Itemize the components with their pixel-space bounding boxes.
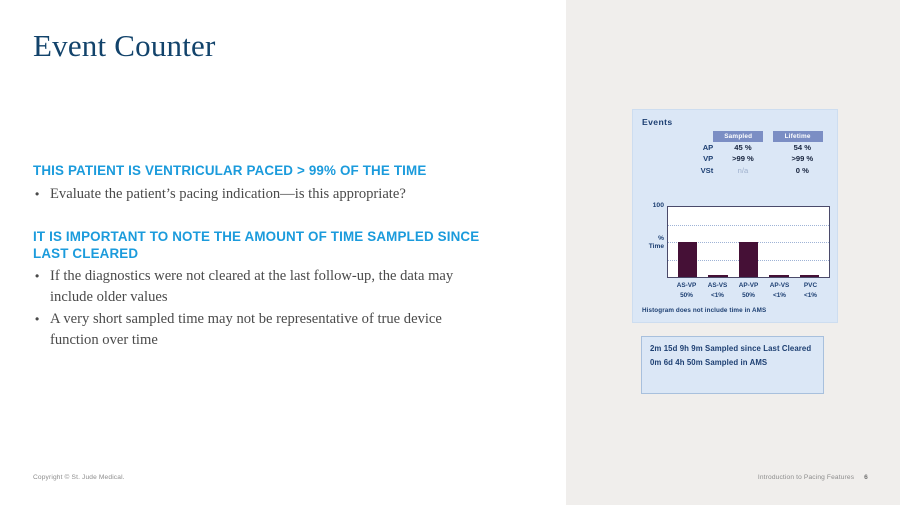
device-screenshot-panel: Events Sampled Lifetime AP bbox=[566, 0, 900, 505]
events-card: Events Sampled Lifetime AP bbox=[632, 109, 838, 323]
block-2-bullet-list: • If the diagnostics were not cleared at… bbox=[33, 266, 493, 351]
bar-slot-ap-vs bbox=[764, 207, 795, 277]
cell-vst-lifetime: 0 % bbox=[773, 165, 832, 177]
event-histogram-chart: 100 % Time bbox=[642, 206, 832, 302]
table-row: AP 45 % 54 % bbox=[642, 142, 832, 154]
sampled-time-box: 2m 15d 9h 9m Sampled since Last Cleared … bbox=[641, 336, 824, 394]
table-header-row: Sampled Lifetime bbox=[642, 131, 832, 142]
sampled-in-ams: 0m 6d 4h 50m Sampled in AMS bbox=[650, 358, 815, 369]
list-item: • Evaluate the patient’s pacing indicati… bbox=[33, 184, 493, 205]
x-category-as-vs: AS-VS bbox=[702, 281, 733, 291]
list-item-text: If the diagnostics were not cleared at t… bbox=[50, 268, 453, 305]
x-value-as-vs: <1% bbox=[702, 291, 733, 301]
column-header-lifetime: Lifetime bbox=[773, 131, 832, 142]
x-category-ap-vp: AP-VP bbox=[733, 281, 764, 291]
block-1-bullet-list: • Evaluate the patient’s pacing indicati… bbox=[33, 184, 493, 205]
x-category-ap-vs: AP-VS bbox=[764, 281, 795, 291]
page-title: Event Counter bbox=[33, 28, 216, 64]
content-block-1: THIS PATIENT IS VENTRICULAR PACED > 99% … bbox=[33, 163, 493, 206]
badge-sampled: Sampled bbox=[713, 131, 763, 142]
x-value-as-vp: 50% bbox=[671, 291, 702, 301]
column-header-blank bbox=[642, 131, 713, 142]
cell-vp-lifetime: >99 % bbox=[773, 153, 832, 165]
block-1-heading: THIS PATIENT IS VENTRICULAR PACED > 99% … bbox=[33, 163, 493, 180]
row-label-ap: AP bbox=[642, 142, 713, 154]
page-number: 6 bbox=[864, 474, 868, 481]
bar-as-vp bbox=[678, 242, 697, 277]
list-item-text: A very short sampled time may not be rep… bbox=[50, 311, 442, 348]
events-table: Sampled Lifetime AP 45 % 54 % VP bbox=[642, 131, 832, 176]
chart-plot-area bbox=[667, 206, 830, 278]
block-2-heading: IT IS IMPORTANT TO NOTE THE AMOUNT OF TI… bbox=[33, 229, 493, 262]
x-value-ap-vp: 50% bbox=[733, 291, 764, 301]
table-row: VSt n/a 0 % bbox=[642, 165, 832, 177]
x-label-as-vp: AS-VP 50% bbox=[671, 281, 702, 300]
footer-deck-info: Introduction to Pacing Features6 bbox=[758, 474, 868, 481]
events-table-head: Sampled Lifetime bbox=[642, 131, 832, 142]
list-item: • If the diagnostics were not cleared at… bbox=[33, 266, 493, 308]
x-label-ap-vs: AP-VS <1% bbox=[764, 281, 795, 300]
x-category-as-vp: AS-VP bbox=[671, 281, 702, 291]
sampled-time-text: 2m 15d 9h 9m Sampled since Last Cleared … bbox=[650, 344, 815, 368]
y-axis-label-line-2: Time bbox=[641, 243, 664, 251]
list-item-text: Evaluate the patient’s pacing indication… bbox=[50, 186, 406, 202]
bar-slot-as-vs bbox=[703, 207, 734, 277]
y-axis-tick-100: 100 bbox=[642, 202, 664, 209]
bullet-marker: • bbox=[35, 266, 39, 287]
x-value-pvc: <1% bbox=[795, 291, 826, 301]
bar-slot-as-vp bbox=[672, 207, 703, 277]
cell-vp-sampled: >99 % bbox=[713, 153, 772, 165]
cell-ap-lifetime: 54 % bbox=[773, 142, 832, 154]
events-card-title: Events bbox=[642, 117, 673, 127]
bar-ap-vp bbox=[739, 242, 758, 277]
x-label-as-vs: AS-VS <1% bbox=[702, 281, 733, 300]
cell-ap-sampled: 45 % bbox=[713, 142, 772, 154]
footer-copyright: Copyright © St. Jude Medical. bbox=[33, 474, 125, 481]
row-label-vp: VP bbox=[642, 153, 713, 165]
bullet-marker: • bbox=[35, 184, 39, 205]
chart-x-axis-labels: AS-VP 50% AS-VS <1% AP-VP 50% AP-VS <1% bbox=[667, 281, 830, 300]
y-axis-label-line-1: % bbox=[641, 235, 664, 243]
footer-deck-name: Introduction to Pacing Features bbox=[758, 474, 854, 481]
x-label-pvc: PVC <1% bbox=[795, 281, 826, 300]
bar-pvc bbox=[800, 275, 819, 277]
list-item: • A very short sampled time may not be r… bbox=[33, 309, 493, 351]
cell-vst-sampled: n/a bbox=[713, 165, 772, 177]
x-value-ap-vs: <1% bbox=[764, 291, 795, 301]
bar-ap-vs bbox=[769, 275, 788, 277]
badge-lifetime: Lifetime bbox=[773, 131, 823, 142]
bar-slot-ap-vp bbox=[733, 207, 764, 277]
x-category-pvc: PVC bbox=[795, 281, 826, 291]
slide-content-area: Event Counter THIS PATIENT IS VENTRICULA… bbox=[0, 0, 566, 505]
events-table-body: AP 45 % 54 % VP >99 % >99 % VSt n/a 0 % bbox=[642, 142, 832, 177]
sampled-since-last-cleared: 2m 15d 9h 9m Sampled since Last Cleared bbox=[650, 344, 815, 355]
x-label-ap-vp: AP-VP 50% bbox=[733, 281, 764, 300]
chart-bars bbox=[668, 207, 829, 277]
bullet-marker: • bbox=[35, 309, 39, 330]
y-axis-label: % Time bbox=[641, 235, 664, 251]
histogram-footnote: Histogram does not include time in AMS bbox=[642, 307, 766, 314]
content-block-2: IT IS IMPORTANT TO NOTE THE AMOUNT OF TI… bbox=[33, 229, 493, 352]
row-label-vst: VSt bbox=[642, 165, 713, 177]
bar-as-vs bbox=[708, 275, 727, 277]
column-header-sampled: Sampled bbox=[713, 131, 772, 142]
table-row: VP >99 % >99 % bbox=[642, 153, 832, 165]
bar-slot-pvc bbox=[794, 207, 825, 277]
slide-root: Event Counter THIS PATIENT IS VENTRICULA… bbox=[0, 0, 900, 505]
